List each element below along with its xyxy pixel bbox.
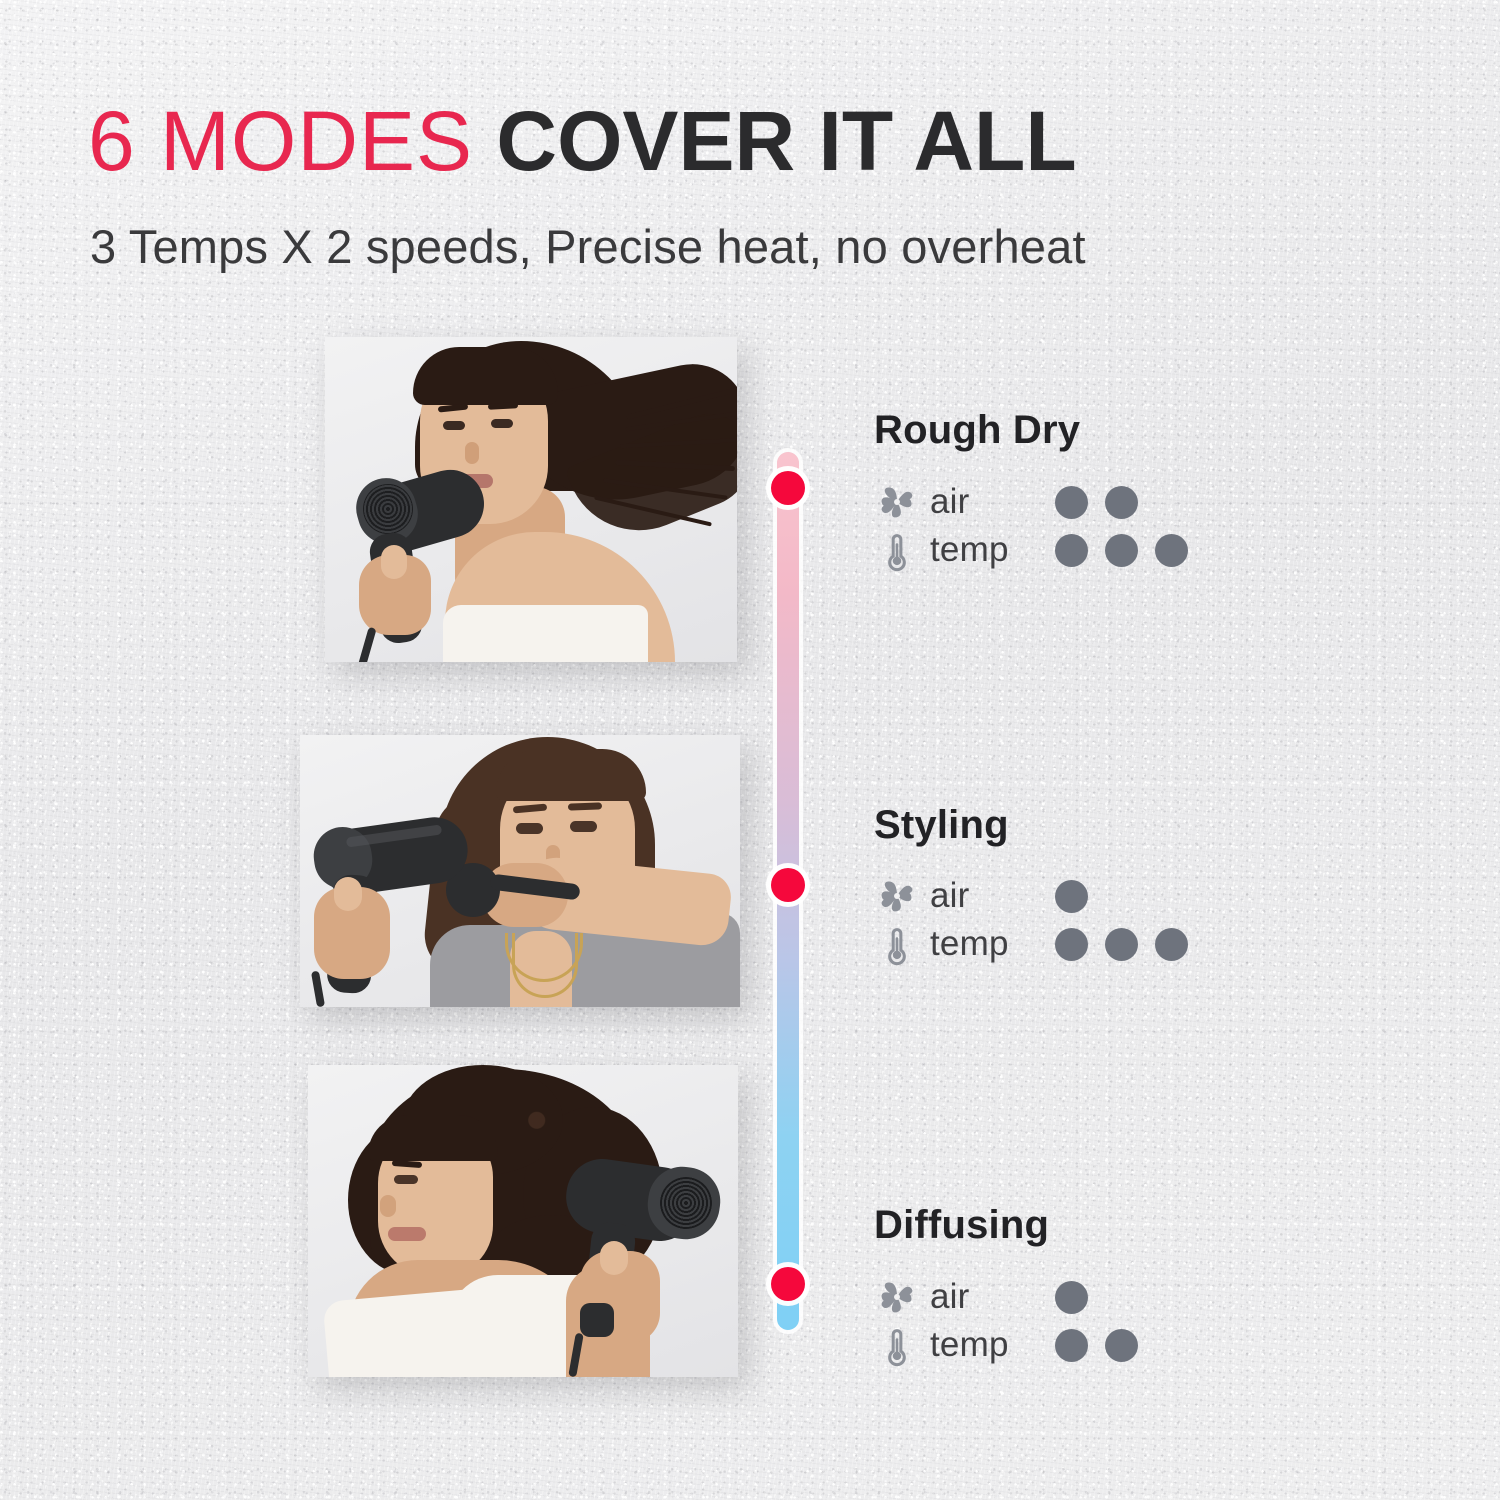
mode-title-rough-dry: Rough Dry (874, 408, 1080, 453)
level-dot (1105, 1329, 1138, 1362)
level-dot (1105, 534, 1138, 567)
level-dot (1055, 928, 1088, 961)
mode-photo-rough-dry (325, 337, 737, 662)
spec-dots-styling-air (1055, 872, 1088, 920)
spec-dots-rough-dry-temp (1055, 526, 1188, 574)
spec-label-air: air (930, 1277, 970, 1317)
timeline-marker-rough-dry[interactable] (771, 471, 805, 505)
spec-label-air: air (930, 482, 970, 522)
spec-dots-diffusing-temp (1055, 1321, 1138, 1369)
mode-photo-styling (300, 735, 740, 1007)
page-subtitle: 3 Temps X 2 speeds, Precise heat, no ove… (90, 218, 1420, 276)
mode-photo-diffusing (308, 1065, 738, 1377)
spec-row-rough-dry-temp: temp (874, 526, 1009, 574)
level-dot (1055, 486, 1088, 519)
spec-dots-diffusing-air (1055, 1273, 1088, 1321)
spec-label-temp: temp (930, 1325, 1009, 1365)
spec-row-styling-temp: temp (874, 920, 1009, 968)
spec-row-styling-air: air (874, 872, 970, 920)
timeline-marker-styling[interactable] (771, 868, 805, 902)
spec-dots-rough-dry-air (1055, 478, 1138, 526)
spec-label-air: air (930, 876, 970, 916)
spec-row-diffusing-air: air (874, 1273, 970, 1321)
level-dot (1055, 1329, 1088, 1362)
level-dot (1055, 534, 1088, 567)
spec-row-rough-dry-air: air (874, 478, 970, 526)
mode-title-diffusing: Diffusing (874, 1203, 1049, 1248)
fan-icon (874, 1274, 920, 1320)
level-dot (1105, 928, 1138, 961)
spec-label-temp: temp (930, 924, 1009, 964)
level-dot (1105, 486, 1138, 519)
level-dot (1155, 928, 1188, 961)
level-dot (1055, 1281, 1088, 1314)
thermometer-icon (874, 921, 920, 967)
spec-label-temp: temp (930, 530, 1009, 570)
spec-dots-styling-temp (1055, 920, 1188, 968)
fan-icon (874, 873, 920, 919)
thermometer-icon (874, 1322, 920, 1368)
spec-row-diffusing-temp: temp (874, 1321, 1009, 1369)
page-title: 6 MODES COVER IT ALL (88, 96, 1418, 186)
mode-title-styling: Styling (874, 803, 1009, 848)
headline-highlight: 6 MODES (88, 94, 473, 188)
thermometer-icon (874, 527, 920, 573)
headline-rest: COVER IT ALL (473, 94, 1077, 188)
timeline-marker-diffusing[interactable] (771, 1267, 805, 1301)
level-dot (1055, 880, 1088, 913)
level-dot (1155, 534, 1188, 567)
fan-icon (874, 479, 920, 525)
